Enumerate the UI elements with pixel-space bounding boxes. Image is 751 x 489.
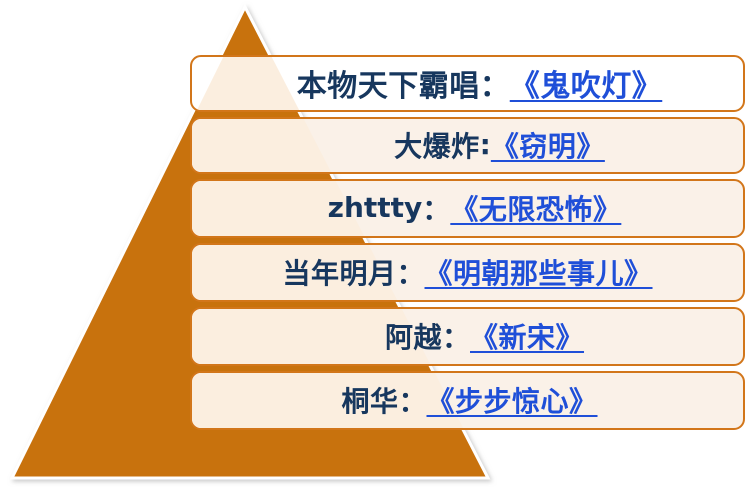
row-separator-3: ：	[422, 188, 450, 228]
row-author-3: zhttty	[328, 191, 423, 224]
row-author-2: 大爆炸	[394, 125, 480, 165]
row-title-6[interactable]: 《步步惊心》	[427, 380, 604, 420]
pyramid-row-3[interactable]: zhttty ： 《无限恐怖》	[190, 179, 745, 238]
pyramid-row-1[interactable]: 本物天下霸唱 ： 《鬼吹灯》	[190, 55, 745, 112]
pyramid-diagram: 本物天下霸唱 ： 《鬼吹灯》 大爆炸 : 《窃明》 zhttty ：	[0, 0, 751, 489]
row-author-6: 桐华	[341, 380, 398, 420]
row-title-3[interactable]: 《无限恐怖》	[450, 188, 627, 228]
row-author-4: 当年明月	[282, 252, 396, 292]
row-separator-4: ：	[396, 252, 424, 292]
row-author-1: 本物天下霸唱	[297, 61, 480, 105]
row-separator-1: ：	[480, 61, 510, 105]
pyramid-row-4[interactable]: 当年明月 ： 《明朝那些事儿》	[190, 243, 745, 302]
row-separator-6: ：	[398, 380, 426, 420]
pyramid-row-2[interactable]: 大爆炸 : 《窃明》	[190, 117, 745, 174]
row-title-2[interactable]: 《窃明》	[491, 125, 611, 165]
row-author-5: 阿越	[385, 316, 442, 356]
pyramid-row-6[interactable]: 桐华 ： 《步步惊心》	[190, 371, 745, 430]
pyramid-rows: 本物天下霸唱 ： 《鬼吹灯》 大爆炸 : 《窃明》 zhttty ：	[190, 55, 745, 430]
pyramid-row-5[interactable]: 阿越 ： 《新宋》	[190, 307, 745, 366]
row-separator-5: ：	[442, 316, 470, 356]
row-title-5[interactable]: 《新宋》	[470, 316, 590, 356]
row-title-1[interactable]: 《鬼吹灯》	[510, 61, 669, 105]
row-separator-2: :	[480, 128, 491, 161]
row-title-4[interactable]: 《明朝那些事儿》	[425, 252, 659, 292]
